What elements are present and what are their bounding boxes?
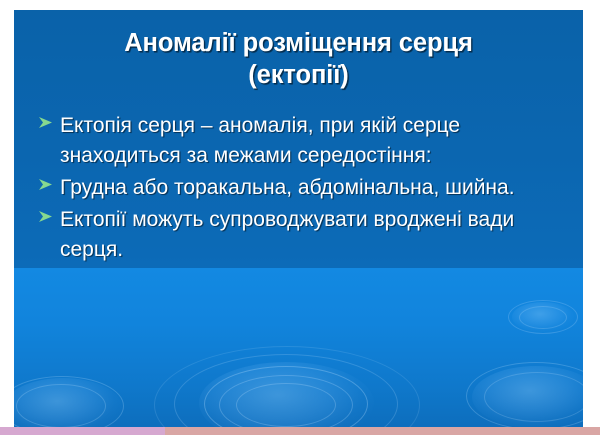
presentation-slide: Аномалії розміщення серця (ектопії) Екто… xyxy=(0,0,600,435)
arrow-bullet-icon xyxy=(38,178,60,191)
slide-title-line-1: Аномалії розміщення серця xyxy=(34,27,563,59)
footer-strip xyxy=(0,427,600,435)
list-item: Грудна або торакальна, абдомінальна, ший… xyxy=(38,173,573,203)
footer-strip-left-segment xyxy=(0,427,165,435)
list-item-text: Ектопії можуть супроводжувати вроджені в… xyxy=(60,205,573,265)
list-item-text: Грудна або торакальна, абдомінальна, ший… xyxy=(60,173,573,203)
footer-strip-right-segment xyxy=(165,427,600,435)
arrow-bullet-icon xyxy=(38,116,60,129)
list-item-text: Ектопія серця – аномалія, при якій серце… xyxy=(60,111,573,171)
list-item: Ектопії можуть супроводжувати вроджені в… xyxy=(38,205,573,265)
slide-title-line-2: (ектопії) xyxy=(34,59,563,91)
list-item: Ектопія серця – аномалія, при якій серце… xyxy=(38,111,573,171)
arrow-bullet-icon xyxy=(38,210,60,223)
slide-canvas: Аномалії розміщення серця (ектопії) Екто… xyxy=(14,10,583,427)
slide-body-list: Ектопія серця – аномалія, при якій серце… xyxy=(38,111,573,267)
background-bottom-band xyxy=(14,268,583,427)
slide-title: Аномалії розміщення серця (ектопії) xyxy=(34,27,563,91)
